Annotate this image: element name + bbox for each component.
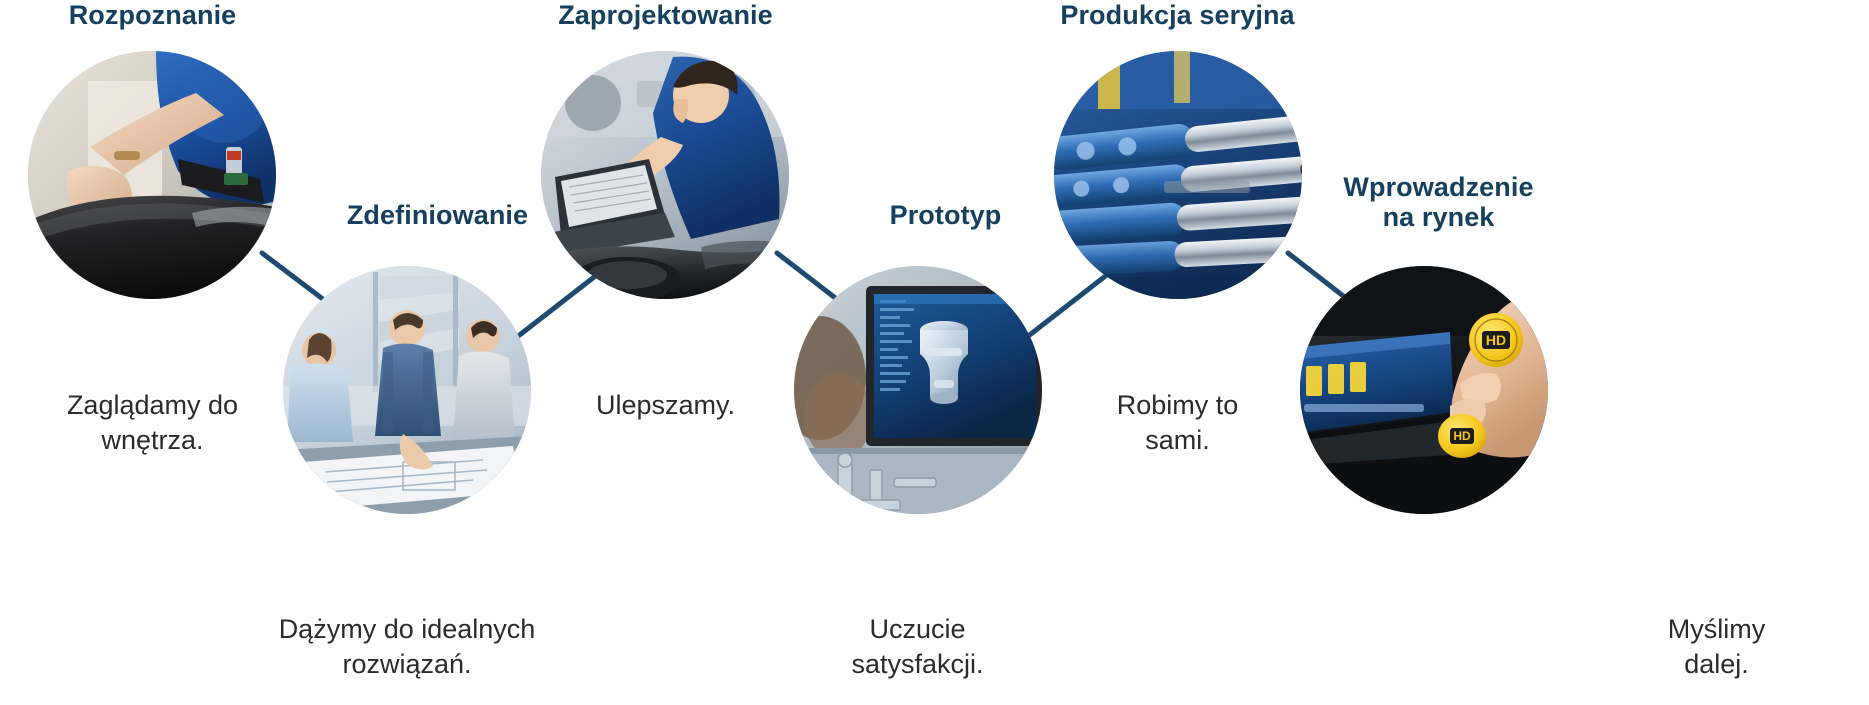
step-caption-wprowadzenie-na-rynek: Myślimy dalej. — [1564, 612, 1869, 681]
step-title-zaprojektowanie: Zaprojektowanie — [513, 0, 818, 30]
step-image-wprowadzenie-na-rynek[interactable]: HD HD — [1300, 266, 1548, 514]
process-infographic: Rozpoznanie — [0, 0, 1869, 705]
photo-cad-screen — [794, 266, 1042, 514]
step-title-rozpoznanie: Rozpoznanie — [0, 0, 305, 30]
photo-production-line — [1054, 51, 1302, 299]
step-title-prototyp: Prototyp — [793, 200, 1098, 230]
svg-text:HD: HD — [1486, 332, 1506, 348]
step-image-prototyp[interactable] — [794, 266, 1042, 514]
step-caption-prototyp: Uczucie satysfakcji. — [765, 612, 1070, 681]
svg-text:HD: HD — [1453, 429, 1471, 443]
step-caption-zaprojektowanie: Ulepszamy. — [513, 388, 818, 423]
step-image-zdefiniowanie[interactable] — [283, 266, 531, 514]
photo-mechanic-laptop — [541, 51, 789, 299]
step-image-rozpoznanie[interactable] — [28, 51, 276, 299]
photo-mechanic-hood — [28, 51, 276, 299]
photo-hand-label-sticker: HD HD — [1300, 266, 1548, 514]
photo-team-blueprints — [283, 266, 531, 514]
step-title-wprowadzenie-na-rynek: Wprowadzenie na rynek — [1286, 172, 1591, 232]
step-caption-produkcja-seryjna: Robimy to sami. — [1025, 388, 1330, 457]
step-image-produkcja-seryjna[interactable] — [1054, 51, 1302, 299]
step-caption-zdefiniowanie: Dążymy do idealnych rozwiązań. — [252, 612, 562, 681]
step-caption-rozpoznanie: Zaglądamy do wnętrza. — [0, 388, 305, 457]
step-image-zaprojektowanie[interactable] — [541, 51, 789, 299]
step-title-produkcja-seryjna: Produkcja seryjna — [1025, 0, 1330, 30]
